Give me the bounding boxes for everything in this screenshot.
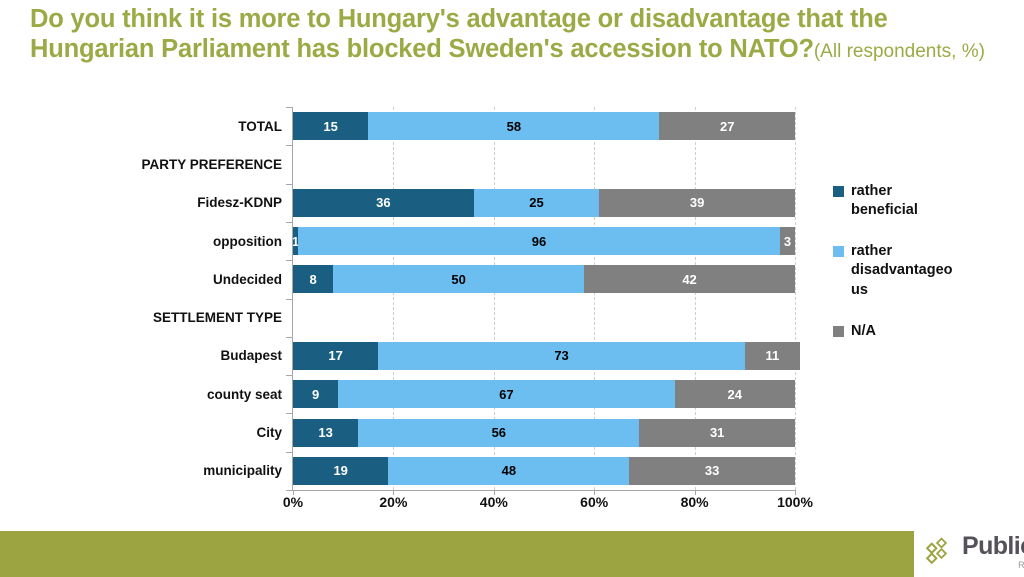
bar-segment-n-a[interactable]: 39: [599, 189, 795, 217]
x-axis-tick-label-40: 40%: [480, 494, 508, 510]
stacked-bar[interactable]: 85042: [293, 265, 795, 293]
bar-segment-rather-disadvantageous[interactable]: 56: [358, 419, 639, 447]
y-axis-tick: [286, 184, 292, 185]
stacked-bar[interactable]: 96724: [293, 380, 795, 408]
bar-segment-n-a[interactable]: 42: [584, 265, 795, 293]
logo-name-text: Publicus: [962, 534, 1024, 559]
chart-bar-row: municipality194833: [0, 452, 1024, 490]
bar-segment-n-a[interactable]: 31: [639, 419, 795, 447]
y-axis-tick: [286, 107, 292, 108]
bar-segment-n-a[interactable]: 3: [780, 227, 795, 255]
legend-item[interactable]: rather disadvantageous: [833, 242, 963, 299]
x-axis-tick-mark-40: [494, 490, 495, 495]
publicus-logo: Publicus Research: [924, 534, 1024, 570]
legend-swatch-rather-disadvantageous: [833, 246, 844, 257]
y-axis-tick: [286, 375, 292, 376]
bar-segment-rather-disadvantageous[interactable]: 96: [298, 227, 780, 255]
legend-item-label: rather disadvantageous: [851, 242, 956, 299]
x-axis-tick-label-20: 20%: [379, 494, 407, 510]
legend-item[interactable]: N/A: [833, 322, 963, 341]
x-axis-tick-mark-100: [795, 490, 796, 495]
bar-segment-n-a[interactable]: 24: [675, 380, 795, 408]
legend-swatch-na: [833, 326, 844, 337]
legend-item-label: N/A: [851, 322, 956, 341]
x-axis-tick-label-100: 100%: [777, 494, 813, 510]
chart-group-header-row: PARTY PREFERENCE: [0, 145, 1024, 183]
x-axis-line: [292, 490, 796, 491]
bar-segment-n-a[interactable]: 27: [659, 112, 795, 140]
row-label-budapest: Budapest: [220, 337, 282, 375]
stacked-bar[interactable]: 155827: [293, 112, 795, 140]
stacked-bar[interactable]: 194833: [293, 457, 795, 485]
diamond-cluster-icon: [924, 535, 958, 569]
legend-item-label: rather beneficial: [851, 182, 956, 220]
bar-segment-rather-beneficial[interactable]: 13: [293, 419, 358, 447]
y-axis-tick: [286, 299, 292, 300]
bar-segment-rather-disadvantageous[interactable]: 50: [333, 265, 584, 293]
y-axis-tick: [286, 337, 292, 338]
x-axis-tick-mark-80: [695, 490, 696, 495]
slide-root: Do you think it is more to Hungary's adv…: [0, 0, 1024, 577]
bar-segment-rather-disadvantageous[interactable]: 73: [378, 342, 744, 370]
chart-legend: rather beneficialrather disadvantageousN…: [833, 182, 963, 363]
bar-segment-n-a[interactable]: 33: [629, 457, 795, 485]
row-label-city: City: [256, 413, 282, 451]
stacked-bar[interactable]: 135631: [293, 419, 795, 447]
bar-segment-rather-beneficial[interactable]: 9: [293, 380, 338, 408]
stacked-bar[interactable]: 177311: [293, 342, 795, 370]
x-axis-tick-label-0: 0%: [283, 494, 303, 510]
bar-segment-rather-disadvantageous[interactable]: 58: [368, 112, 659, 140]
y-axis-tick: [286, 452, 292, 453]
chart-bar-row: City135631: [0, 413, 1024, 451]
y-axis-tick: [286, 222, 292, 223]
x-axis-tick-mark-20: [393, 490, 394, 495]
logo-wordmark: Publicus Research: [962, 534, 1024, 570]
legend-swatch-rather-beneficial: [833, 186, 844, 197]
bar-segment-rather-beneficial[interactable]: 19: [293, 457, 388, 485]
y-axis-tick: [286, 260, 292, 261]
x-axis-tick-label-80: 80%: [681, 494, 709, 510]
row-label-undecided: Undecided: [213, 260, 282, 298]
stacked-bar[interactable]: 362539: [293, 189, 795, 217]
row-label-county-seat: county seat: [207, 375, 282, 413]
bar-segment-rather-disadvantageous[interactable]: 67: [338, 380, 674, 408]
logo-tagline-text: Research: [962, 560, 1024, 570]
chart-bar-row: county seat96724: [0, 375, 1024, 413]
bar-segment-rather-disadvantageous[interactable]: 48: [388, 457, 629, 485]
bar-segment-rather-beneficial[interactable]: 17: [293, 342, 378, 370]
chart-bar-row: TOTAL155827: [0, 107, 1024, 145]
row-label-fidesz-kdnp: Fidesz-KDNP: [197, 184, 282, 222]
y-axis-tick: [286, 413, 292, 414]
row-label-municipality: municipality: [203, 452, 282, 490]
row-label-party-preference: PARTY PREFERENCE: [141, 145, 282, 183]
bar-segment-rather-beneficial[interactable]: 15: [293, 112, 368, 140]
row-label-total: TOTAL: [238, 107, 282, 145]
legend-item[interactable]: rather beneficial: [833, 182, 963, 220]
bar-segment-rather-beneficial[interactable]: 8: [293, 265, 333, 293]
stacked-bar[interactable]: 1963: [293, 227, 795, 255]
x-axis-tick-labels: 0%20%40%60%80%100%: [0, 494, 1024, 518]
x-axis-tick-mark-60: [594, 490, 595, 495]
x-axis-tick-mark-0: [293, 490, 294, 495]
x-axis-tick-label-60: 60%: [580, 494, 608, 510]
y-axis-tick: [286, 490, 292, 491]
footer-bar: [0, 531, 914, 577]
y-axis-tick: [286, 145, 292, 146]
bar-segment-rather-disadvantageous[interactable]: 25: [474, 189, 600, 217]
bar-segment-n-a[interactable]: 11: [745, 342, 800, 370]
row-label-opposition: opposition: [213, 222, 282, 260]
row-label-settlement-type: SETTLEMENT TYPE: [153, 299, 282, 337]
bar-segment-rather-beneficial[interactable]: 36: [293, 189, 474, 217]
